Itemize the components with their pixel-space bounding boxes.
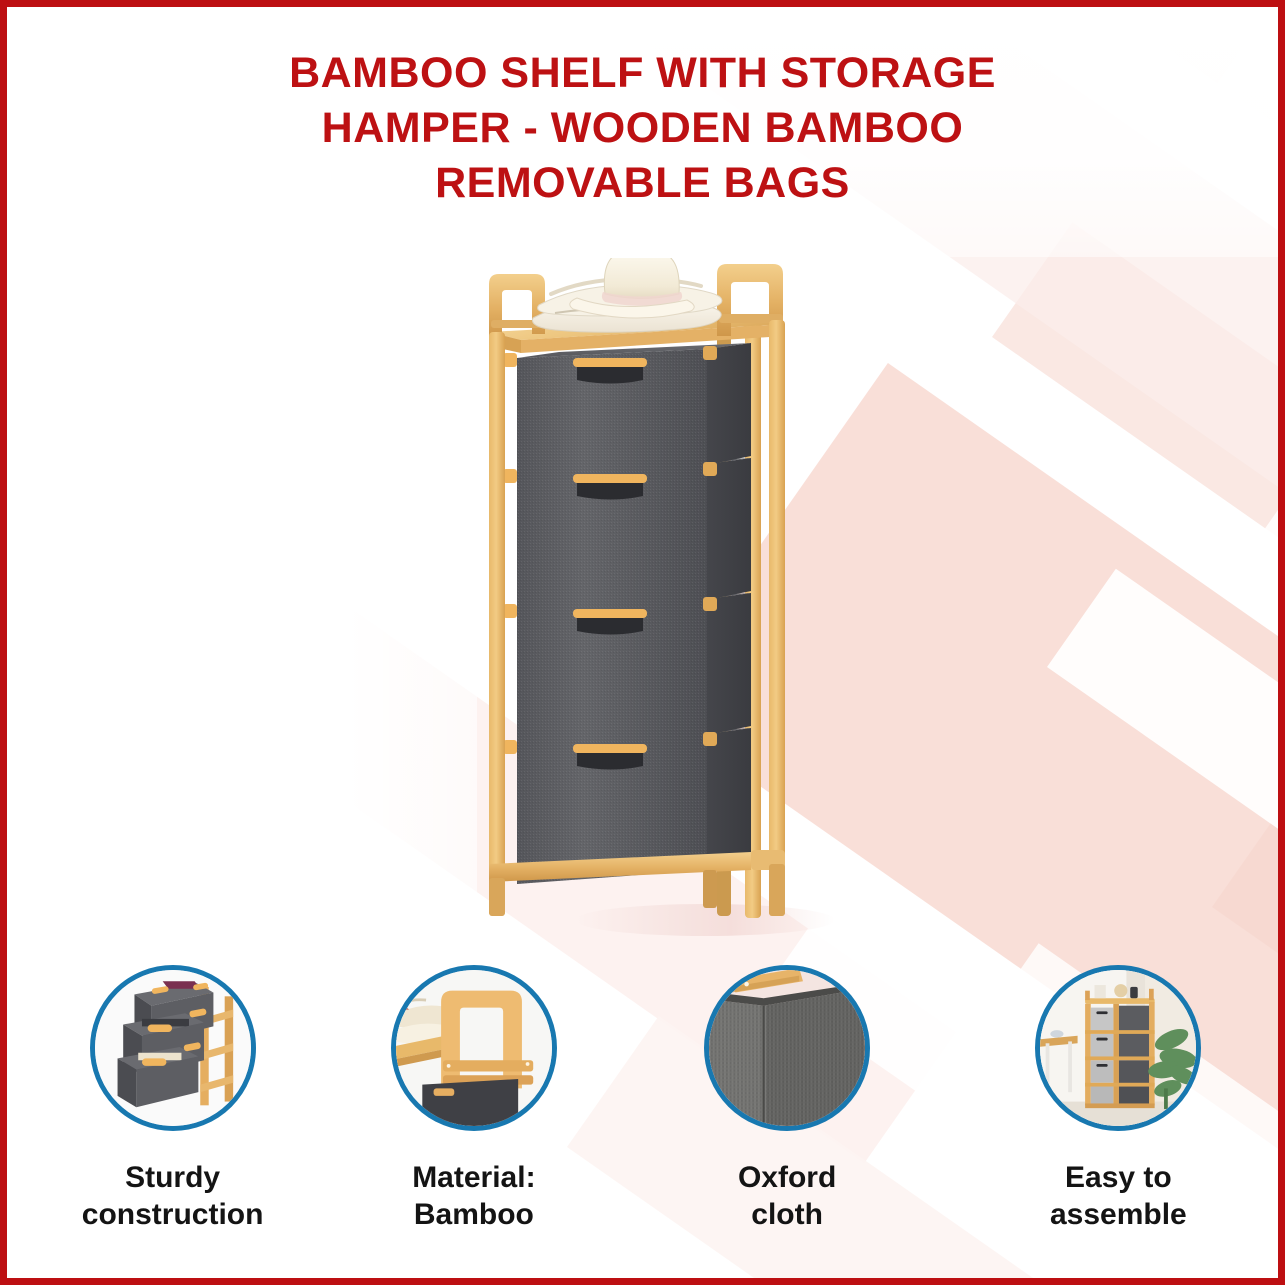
hero-product-image	[455, 258, 855, 938]
feature-easy-to-assemble: Easy to assemble	[959, 965, 1278, 1265]
feature-image-sturdy-construction	[90, 965, 256, 1131]
feature-label: Oxford cloth	[738, 1159, 836, 1233]
feature-image-oxford-cloth	[704, 965, 870, 1131]
feature-label: Material: Bamboo	[412, 1159, 535, 1233]
product-listing-image: BAMBOO SHELF WITH STORAGE HAMPER - WOODE…	[0, 0, 1285, 1285]
feature-image-easy-to-assemble	[1035, 965, 1201, 1131]
feature-label: Easy to assemble	[1050, 1159, 1187, 1233]
feature-sturdy-construction: Sturdy construction	[13, 965, 332, 1265]
feature-oxford-cloth: Oxford cloth	[628, 965, 947, 1265]
feature-material-bamboo: Material: Bamboo	[314, 965, 633, 1265]
feature-row: Sturdy construction	[7, 965, 1278, 1265]
feature-label: Sturdy construction	[82, 1159, 264, 1233]
feature-image-material-bamboo	[391, 965, 557, 1131]
page-title: BAMBOO SHELF WITH STORAGE HAMPER - WOODE…	[223, 46, 1063, 211]
